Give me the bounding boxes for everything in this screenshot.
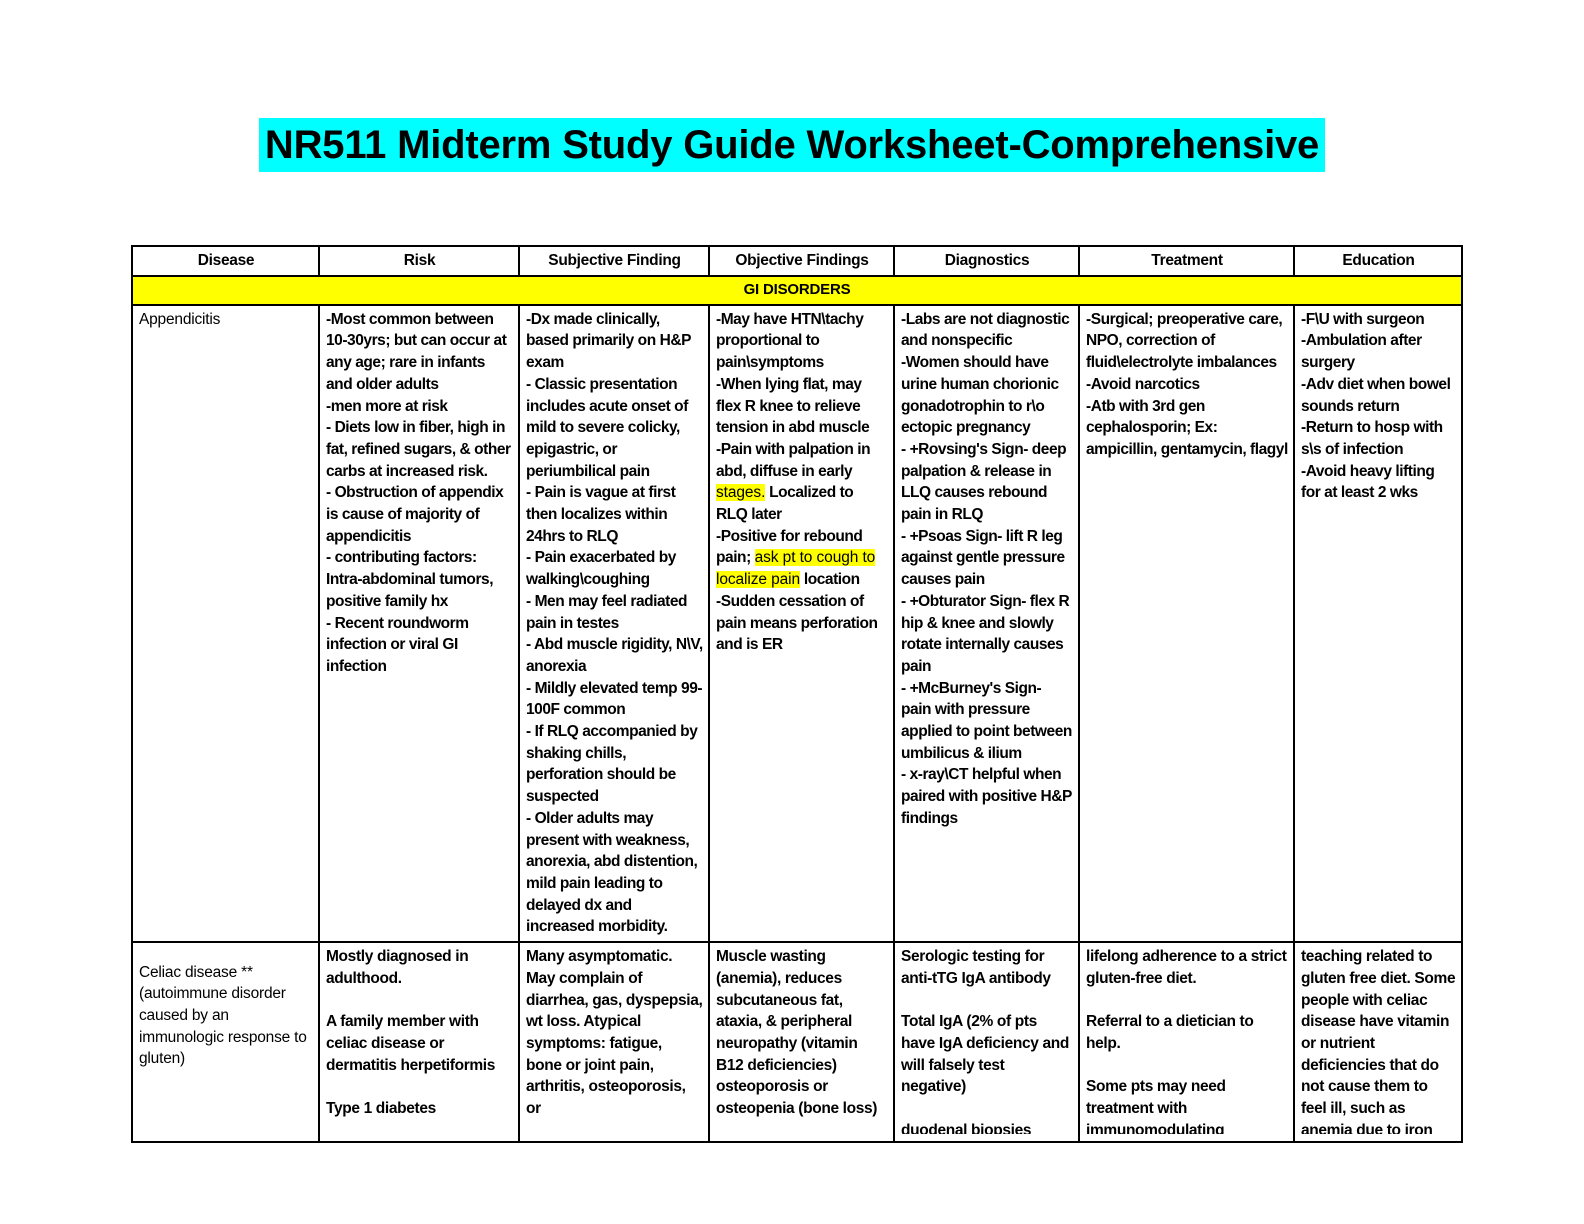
cell-education: teaching related to gluten free diet. So… (1294, 942, 1462, 1142)
education-item: -Ambulation after surgery (1301, 330, 1456, 373)
objective-item: -May have HTN\tachy proportional to pain… (716, 309, 888, 374)
treatment-item: Some pts may need treatment with immunom… (1086, 1076, 1288, 1134)
spacer (326, 990, 513, 1012)
cell-objective: Muscle wasting (anemia), reduces subcuta… (709, 942, 894, 1142)
column-header-subjective: Subjective Finding (519, 246, 709, 276)
spacer (1086, 1055, 1288, 1077)
subjective-item: - If RLQ accompanied by shaking chills, … (526, 721, 703, 808)
subjective-item: - Mildly elevated temp 99-100F common (526, 678, 703, 721)
cell-risk: Mostly diagnosed in adulthood. A family … (319, 942, 519, 1142)
cell-diagnostics: -Labs are not diagnostic and nonspecific… (894, 305, 1079, 942)
risk-item: A family member with celiac disease or d… (326, 1011, 513, 1076)
table-row: Celiac disease ** (autoimmune disorder c… (132, 942, 1462, 1142)
cell-objective: -May have HTN\tachy proportional to pain… (709, 305, 894, 942)
treatment-item: Referral to a dietician to help. (1086, 1011, 1288, 1054)
column-header-objective: Objective Findings (709, 246, 894, 276)
subjective-item: - Older adults may present with weakness… (526, 808, 703, 938)
diagnostics-item: Total IgA (2% of pts have IgA deficiency… (901, 1011, 1073, 1098)
diagnostics-sign: - +Psoas Sign- lift R leg against gentle… (901, 526, 1073, 591)
objective-text: location (800, 571, 860, 588)
sign-label: - +Obturator Sign- (901, 593, 1026, 610)
objective-item: Muscle wasting (anemia), reduces subcuta… (716, 946, 888, 1120)
cell-disease: Appendicitis (132, 305, 319, 942)
spacer (901, 1098, 1073, 1120)
risk-item: - Diets low in fiber, high in fat, refin… (326, 417, 513, 482)
sign-label: - +McBurney's Sign- (901, 680, 1041, 697)
diagnostics-item: -Women should have urine human chorionic… (901, 352, 1073, 439)
treatment-item: -Avoid narcotics (1086, 374, 1288, 396)
diagnostics-sign: - +Rovsing's Sign- deep palpation & rele… (901, 439, 1073, 526)
sign-label: - +Rovsing's Sign- (901, 441, 1028, 458)
education-item: -F\U with surgeon (1301, 309, 1456, 331)
table-header-row: Disease Risk Subjective Finding Objectiv… (132, 246, 1462, 276)
subjective-item: - Pain is vague at first then localizes … (526, 482, 703, 547)
subjective-item: - Pain exacerbated by walking\coughing (526, 547, 703, 590)
cell-treatment: -Surgical; preoperative care, NPO, corre… (1079, 305, 1294, 942)
treatment-item: -Atb with 3rd gen cephalosporin; Ex: amp… (1086, 396, 1288, 461)
cell-disease: Celiac disease ** (autoimmune disorder c… (132, 942, 319, 1142)
study-guide-table-container: Disease Risk Subjective Finding Objectiv… (131, 245, 1461, 1143)
cell-diagnostics: Serologic testing for anti-tTG IgA antib… (894, 942, 1079, 1142)
highlighted-text: stages. (716, 484, 765, 501)
risk-item: Mostly diagnosed in adulthood. (326, 946, 513, 989)
objective-item-highlighted: -Positive for rebound pain; ask pt to co… (716, 526, 888, 591)
risk-item: -Most common between 10-30yrs; but can o… (326, 309, 513, 396)
section-band-label: GI DISORDERS (132, 276, 1462, 305)
page-title: NR511 Midterm Study Guide Worksheet-Comp… (259, 118, 1325, 172)
sign-label: - +Psoas Sign- (901, 528, 1002, 545)
objective-text: -Pain with palpation in abd, diffuse in … (716, 441, 870, 480)
cell-risk: -Most common between 10-30yrs; but can o… (319, 305, 519, 942)
table-body: GI DISORDERS Appendicitis -Most common b… (132, 276, 1462, 1142)
objective-item: -Sudden cessation of pain means perforat… (716, 591, 888, 656)
education-item: -Avoid heavy lifting for at least 2 wks (1301, 461, 1456, 504)
document-page: NR511 Midterm Study Guide Worksheet-Comp… (0, 0, 1584, 1224)
diagnostics-item: Serologic testing for anti-tTG IgA antib… (901, 946, 1073, 989)
column-header-risk: Risk (319, 246, 519, 276)
diagnostics-sign: - +Obturator Sign- flex R hip & knee and… (901, 591, 1073, 678)
section-band-row: GI DISORDERS (132, 276, 1462, 305)
cell-subjective: -Dx made clinically, based primarily on … (519, 305, 709, 942)
column-header-disease: Disease (132, 246, 319, 276)
subjective-item: - Abd muscle rigidity, N\V, anorexia (526, 634, 703, 677)
title-container: NR511 Midterm Study Guide Worksheet-Comp… (0, 118, 1584, 172)
spacer (901, 990, 1073, 1012)
subjective-item: bone or joint pain, arthritis, osteoporo… (526, 1055, 703, 1120)
risk-item: - contributing factors: Intra-abdominal … (326, 547, 513, 612)
subjective-item: Many asymptomatic. May complain of diarr… (526, 946, 703, 1055)
treatment-item: lifelong adherence to a strict gluten-fr… (1086, 946, 1288, 989)
diagnostics-sign: - +McBurney's Sign- pain with pressure a… (901, 678, 1073, 765)
diagnostics-item: duodenal biopsies (901, 1120, 1073, 1134)
risk-item: - Obstruction of appendix is cause of ma… (326, 482, 513, 547)
objective-item-highlighted: -Pain with palpation in abd, diffuse in … (716, 439, 888, 526)
study-guide-table: Disease Risk Subjective Finding Objectiv… (131, 245, 1463, 1143)
disease-name: Appendicitis (139, 309, 313, 331)
spacer (326, 1076, 513, 1098)
education-item: -Adv diet when bowel sounds return (1301, 374, 1456, 417)
column-header-treatment: Treatment (1079, 246, 1294, 276)
sign-description: pain with pressure applied to point betw… (901, 701, 1072, 761)
diagnostics-item: -Labs are not diagnostic and nonspecific (901, 309, 1073, 352)
column-header-diagnostics: Diagnostics (894, 246, 1079, 276)
diagnostics-item: - x-ray\CT helpful when paired with posi… (901, 764, 1073, 829)
disease-name: Celiac disease ** (autoimmune disorder c… (139, 962, 313, 1071)
subjective-item: -Dx made clinically, based primarily on … (526, 309, 703, 374)
risk-item: Type 1 diabetes (326, 1098, 513, 1120)
column-header-education: Education (1294, 246, 1462, 276)
cell-subjective: Many asymptomatic. May complain of diarr… (519, 942, 709, 1142)
spacer (1086, 990, 1288, 1012)
treatment-item: -Surgical; preoperative care, NPO, corre… (1086, 309, 1288, 374)
subjective-item: - Men may feel radiated pain in testes (526, 591, 703, 634)
education-item: -Return to hosp with s\s of infection (1301, 417, 1456, 460)
risk-item: -men more at risk (326, 396, 513, 418)
table-row: Appendicitis -Most common between 10-30y… (132, 305, 1462, 942)
objective-item: -When lying flat, may flex R knee to rel… (716, 374, 888, 439)
education-item: teaching related to gluten free diet. So… (1301, 946, 1456, 1134)
table-header: Disease Risk Subjective Finding Objectiv… (132, 246, 1462, 276)
subjective-item: - Classic presentation includes acute on… (526, 374, 703, 483)
risk-item: - Recent roundworm infection or viral GI… (326, 613, 513, 678)
cell-education: -F\U with surgeon -Ambulation after surg… (1294, 305, 1462, 942)
cell-treatment: lifelong adherence to a strict gluten-fr… (1079, 942, 1294, 1142)
